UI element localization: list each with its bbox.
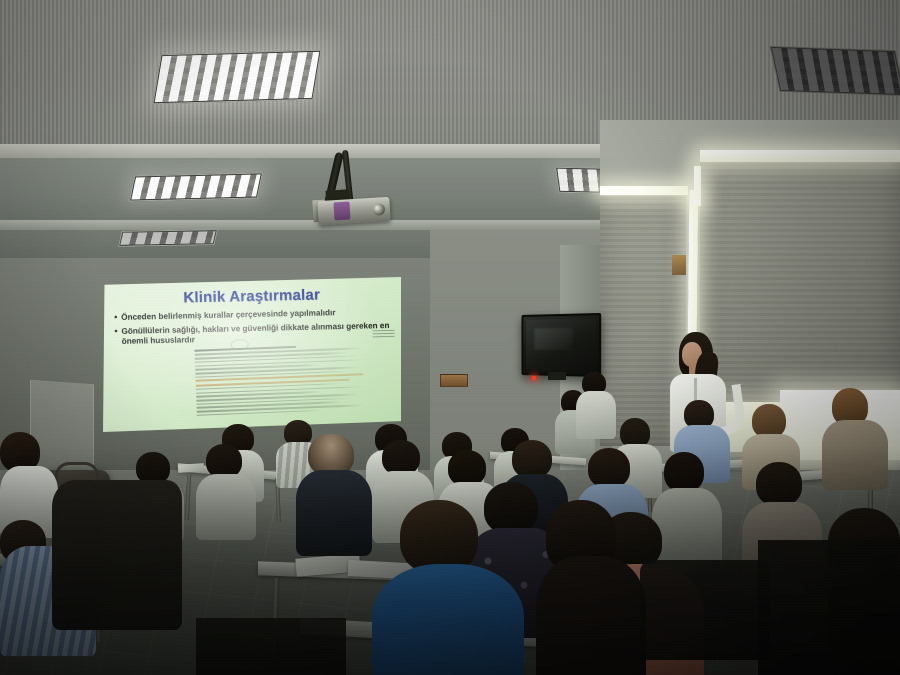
projector-icon (317, 197, 390, 225)
torso (372, 564, 524, 675)
slide-content: Klinik Araştırmalar Önceden belirlenmiş … (103, 277, 401, 432)
head (664, 452, 704, 492)
tv-mount (548, 372, 566, 380)
bag-handle (55, 462, 99, 481)
projector-lens (373, 203, 386, 216)
window-light-gap (600, 186, 688, 195)
slide-embedded-document (194, 343, 372, 428)
head (206, 444, 242, 478)
ceiling-light-icon (129, 172, 263, 201)
head (756, 462, 802, 506)
torso (296, 470, 372, 556)
head (400, 500, 478, 574)
wall-sign (440, 374, 468, 387)
tv-power-led-icon (532, 376, 536, 380)
slide-corner-mark (373, 330, 395, 342)
torso (536, 556, 646, 675)
ceiling-light-icon (152, 50, 321, 104)
door-frame-detail (672, 255, 686, 275)
projector-body-accent (333, 202, 350, 221)
chair-silhouette (196, 618, 346, 675)
torso (822, 420, 888, 490)
head (382, 440, 420, 475)
head (512, 440, 552, 478)
wall-tv-icon (521, 313, 601, 377)
chair-silhouette (640, 560, 770, 660)
head (448, 450, 486, 486)
window-light-gap (700, 150, 900, 162)
projection-screen: Klinik Araştırmalar Önceden belirlenmiş … (103, 277, 401, 432)
window-light-gap (694, 166, 701, 206)
chair-silhouette (758, 540, 900, 675)
torso (52, 480, 182, 630)
head (752, 404, 786, 438)
head (484, 482, 538, 534)
classroom-photo: Klinik Araştırmalar Önceden belirlenmiş … (0, 0, 900, 675)
tv-screen (526, 318, 596, 372)
slide-title: Klinik Araştırmalar (112, 285, 392, 308)
torso (576, 391, 616, 439)
head (588, 448, 630, 488)
ceiling-light-icon (118, 229, 218, 247)
torso (196, 474, 256, 540)
tv-reflection (534, 328, 573, 350)
slide-bullet-list: Önceden belirlenmiş kurallar çerçevesind… (112, 307, 393, 348)
ceiling-light-off-icon (770, 46, 900, 96)
